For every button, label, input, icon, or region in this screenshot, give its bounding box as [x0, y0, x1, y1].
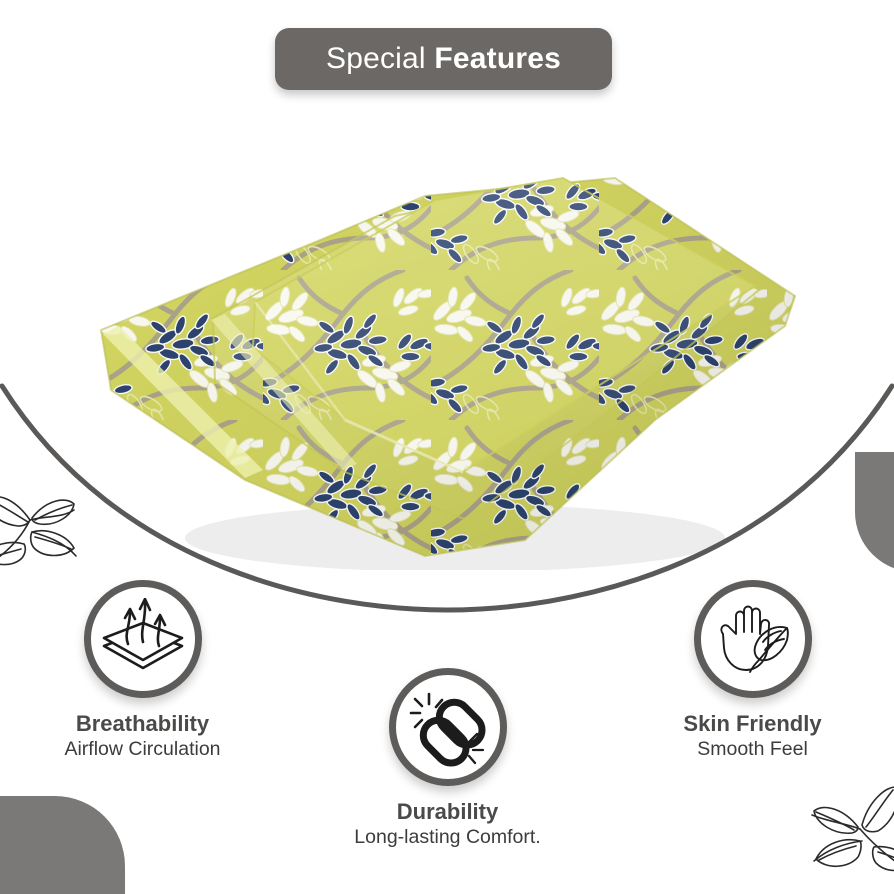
feature-skin-friendly[interactable]: Skin Friendly Smooth Feel [630, 580, 875, 761]
feature-durability[interactable]: Durability Long-lasting Comfort. [325, 668, 570, 849]
leaf-sprig-left-icon [0, 470, 103, 575]
corner-block-bottom-left [0, 796, 125, 894]
page-title-bold: Features [434, 42, 561, 75]
breathable-layers-icon [84, 580, 202, 698]
feature-subtitle: Long-lasting Comfort. [325, 826, 570, 848]
feature-title: Skin Friendly [630, 712, 875, 736]
chain-link-glyph [407, 686, 489, 768]
feature-subtitle: Smooth Feel [630, 738, 875, 760]
feature-breathability[interactable]: Breathability Airflow Circulation [20, 580, 265, 761]
hand-feather-icon [694, 580, 812, 698]
breathable-layers-glyph [100, 598, 186, 680]
feature-title: Durability [325, 800, 570, 824]
infographic-canvas: Special Features [0, 0, 894, 894]
feature-subtitle: Airflow Circulation [20, 738, 265, 760]
hand-feather-glyph [711, 598, 795, 680]
header-banner: Special Features [275, 28, 612, 90]
chain-link-icon [389, 668, 507, 786]
page-title: Special Features [326, 42, 561, 76]
feature-title: Breathability [20, 712, 265, 736]
leaf-sprig-bottom-right-icon [782, 775, 894, 885]
page-title-light: Special [326, 42, 426, 75]
